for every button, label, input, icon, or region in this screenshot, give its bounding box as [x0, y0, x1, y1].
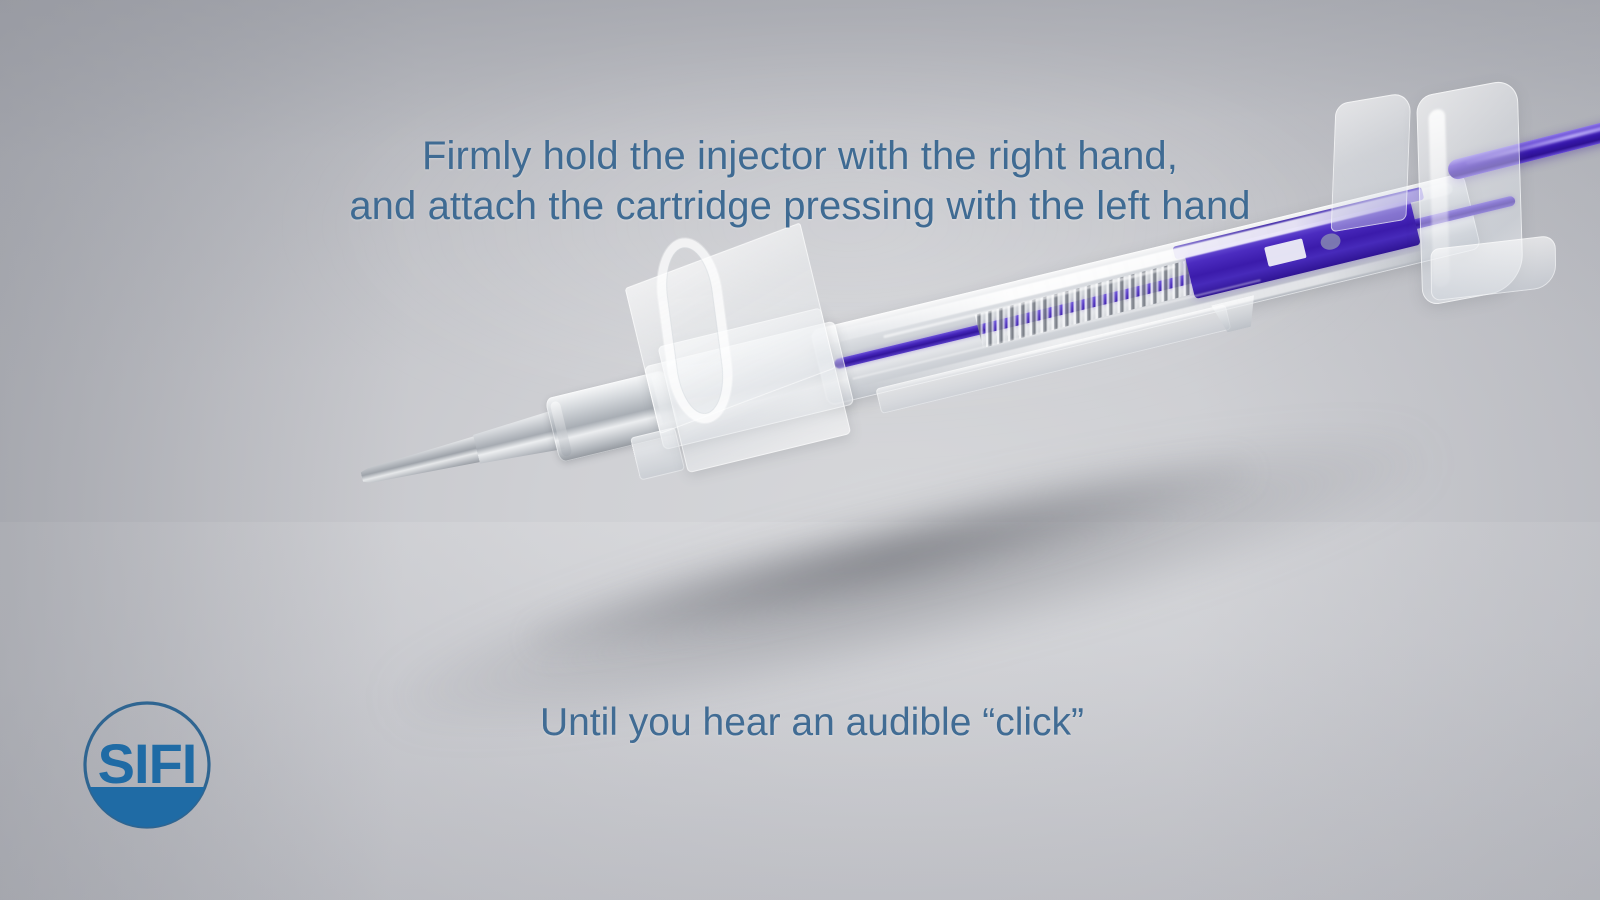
instruction-caption-top: Firmly hold the injector with the right … [0, 131, 1600, 231]
caption-top-line-1: Firmly hold the injector with the right … [0, 131, 1600, 181]
sifi-logo-mark: SIFI [73, 691, 221, 839]
caption-top-line-2: and attach the cartridge pressing with t… [0, 181, 1600, 231]
video-frame: Firmly hold the injector with the right … [0, 0, 1600, 900]
sifi-logo: SIFI [73, 691, 221, 839]
instruction-caption-bottom: Until you hear an audible “click” [0, 699, 1600, 747]
logo-wordmark: SIFI [98, 732, 197, 795]
